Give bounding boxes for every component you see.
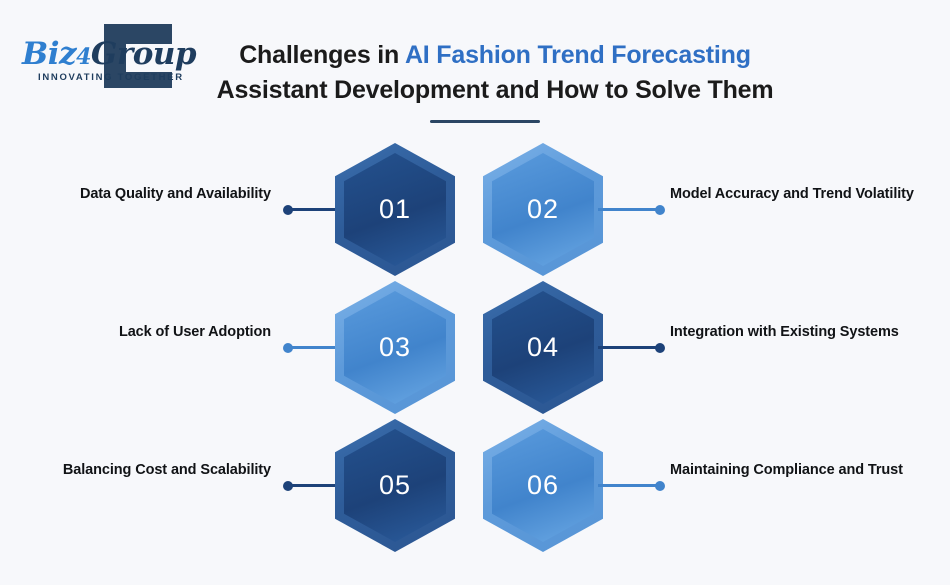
connector-line-02 <box>598 208 660 211</box>
challenge-label-02: Model Accuracy and Trend Volatility <box>670 184 932 205</box>
challenge-row: Balancing Cost and Scalability 05 06 Mai… <box>0 416 950 556</box>
challenge-label-06: Maintaining Compliance and Trust <box>670 460 932 481</box>
connector-dot-03 <box>283 343 293 353</box>
challenge-number-02: 02 <box>483 143 603 276</box>
challenge-number-05: 05 <box>335 419 455 552</box>
connector-line-04 <box>598 346 660 349</box>
connector-line-06 <box>598 484 660 487</box>
logo-text-biz: Biz <box>22 36 76 72</box>
page-title-part2: Assistant Development and How to Solve T… <box>217 76 774 104</box>
challenge-number-01: 01 <box>335 143 455 276</box>
logo-text-four: 4 <box>76 44 91 70</box>
challenge-hexagon-05[interactable]: 05 <box>335 419 455 552</box>
challenge-number-04: 04 <box>483 281 603 414</box>
connector-dot-02 <box>655 205 665 215</box>
challenge-label-05: Balancing Cost and Scalability <box>11 460 271 481</box>
challenge-number-03: 03 <box>335 281 455 414</box>
connector-dot-04 <box>655 343 665 353</box>
page-title-highlight: AI Fashion Trend Forecasting <box>405 41 751 69</box>
challenge-row: Data Quality and Availability 01 02 Mode… <box>0 140 950 280</box>
logo-text-group: Group <box>91 36 196 72</box>
brand-logo: Biz4Group INNOVATING TOGETHER <box>16 22 181 90</box>
challenges-grid: Data Quality and Availability 01 02 Mode… <box>0 135 950 585</box>
challenge-hexagon-06[interactable]: 06 <box>483 419 603 552</box>
challenge-number-06: 06 <box>483 419 603 552</box>
title-divider <box>430 120 540 123</box>
connector-dot-06 <box>655 481 665 491</box>
challenge-hexagon-03[interactable]: 03 <box>335 281 455 414</box>
connector-dot-01 <box>283 205 293 215</box>
challenge-label-01: Data Quality and Availability <box>11 184 271 205</box>
challenge-hexagon-02[interactable]: 02 <box>483 143 603 276</box>
page-title: Challenges in AI Fashion Trend Forecasti… <box>185 38 805 107</box>
page-header: Biz4Group INNOVATING TOGETHER Challenges… <box>0 0 950 135</box>
challenge-label-04: Integration with Existing Systems <box>670 322 932 343</box>
challenge-label-03: Lack of User Adoption <box>11 322 271 343</box>
challenge-hexagon-04[interactable]: 04 <box>483 281 603 414</box>
challenge-hexagon-01[interactable]: 01 <box>335 143 455 276</box>
logo-wordmark: Biz4Group <box>22 36 196 72</box>
challenge-row: Lack of User Adoption 03 04 Integration … <box>0 278 950 418</box>
page-title-part1: Challenges in <box>239 41 405 69</box>
logo-tagline: INNOVATING TOGETHER <box>38 72 184 83</box>
connector-dot-05 <box>283 481 293 491</box>
